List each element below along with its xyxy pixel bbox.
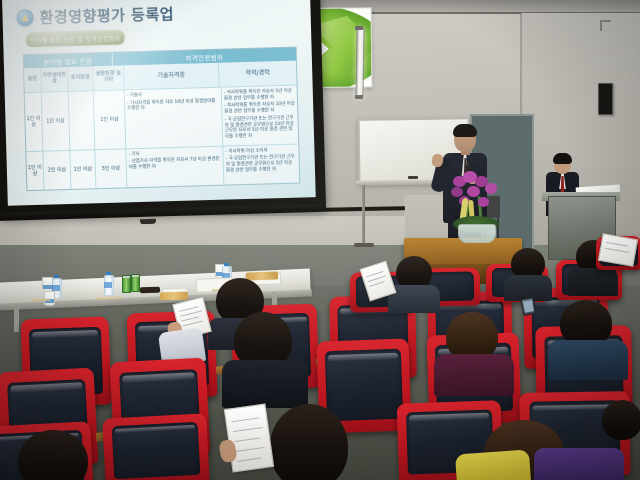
audience-person bbox=[600, 400, 640, 450]
audience-purple-jacket bbox=[534, 448, 624, 480]
cell-total: 1인 이상 bbox=[26, 151, 44, 190]
orchid-bloom bbox=[478, 197, 489, 207]
audience-shoulders bbox=[434, 354, 514, 396]
audience-person bbox=[548, 300, 628, 378]
cell-total: 1인 이상 bbox=[25, 93, 44, 151]
career-line: - 학사학위를 취득한 자로서 10년 이상 환경 관련 업무를 수행한 자 bbox=[224, 102, 295, 115]
audience-shoulders bbox=[222, 360, 308, 408]
whiteboard-foot-left bbox=[354, 243, 374, 247]
cell-living: 1인 이상 bbox=[94, 90, 127, 149]
auditorium-seat[interactable] bbox=[102, 413, 210, 480]
col-header-certificate: 기술자격증 bbox=[124, 63, 220, 90]
col-header-total: 총원 bbox=[24, 68, 42, 92]
presenter-hair bbox=[453, 124, 477, 137]
orchid-bloom bbox=[485, 183, 497, 194]
whiteboard-leg-left bbox=[362, 185, 365, 247]
audience-person-foreground bbox=[256, 404, 360, 480]
handout-document bbox=[224, 403, 274, 472]
water-bottle bbox=[104, 272, 112, 294]
career-line: - 국·공립연구기관 또는 연구기관 근무자 및 환경관련 공무원으로 10년 … bbox=[224, 116, 296, 141]
audience-person-foreground bbox=[12, 430, 108, 480]
qualification-line: - 기술사 bbox=[127, 91, 219, 99]
snack-fried-items bbox=[160, 292, 188, 301]
cell-nature: 2인 이상 bbox=[43, 151, 71, 190]
cell-career: - 석사학위 이상 소지자 - 국·공립연구기관 또는 연구기관 근무자 및 환… bbox=[223, 144, 299, 184]
presentation-slide: 환경영향평가 등록업 분야별 필요 인원 및 자격인정범위 분야별 필요 인원 … bbox=[2, 0, 316, 206]
audience-shoulders bbox=[548, 340, 628, 380]
screen-pull-handle bbox=[140, 219, 156, 224]
career-line: - 석사학위를 취득한 자로서 5년 이상 환경 관련 업무를 수행한 자 bbox=[224, 89, 295, 102]
audience-yellow-jacket bbox=[455, 449, 531, 480]
orchid-arrangement bbox=[447, 170, 507, 242]
slide-subheading-box: 분야별 필요 인원 및 자격인정범위 bbox=[25, 29, 125, 48]
audience-person bbox=[504, 248, 552, 300]
col-header-land: 토지환경 bbox=[68, 66, 94, 91]
snack-dark-item bbox=[140, 287, 160, 294]
table-row: 1인 이상 2인 이상 1인 이상 3인 이상 - 기사 - 산업기사 자격을 … bbox=[26, 143, 299, 190]
career-line: - 국·공립연구기관 또는 연구기관 근무자 및 환경관련 공무원으로 5년 이… bbox=[226, 155, 297, 174]
podium-man-hair bbox=[553, 153, 572, 164]
qualification-line: - 기사자격을 취득한 자로 10년 이상 환경분야를 수행한 자 bbox=[127, 98, 219, 112]
slide-title: 환경영향평가 등록업 bbox=[39, 3, 174, 28]
table-leg-left bbox=[14, 306, 19, 332]
cell-qualification: - 기술사 - 기사자격을 취득한 자로 10년 이상 환경분야를 수행한 자 bbox=[125, 88, 224, 148]
cell-nature: 1인 이상 bbox=[42, 92, 71, 150]
cell-qualification: - 기사 - 산업기사 자격을 취득한 자로서 7년 이상 환경분야를 수행한 … bbox=[126, 146, 224, 187]
wall-speaker-icon bbox=[598, 83, 613, 115]
table-row: 1인 이상 1인 이상 1인 이상 - 기술사 - 기사자격을 취득한 자로 1… bbox=[25, 85, 299, 151]
tube-cap-top bbox=[355, 26, 363, 30]
audience-person bbox=[436, 312, 514, 392]
cell-career: - 석사학위를 취득한 자로서 5년 이상 환경 관련 업무를 수행한 자 - … bbox=[222, 86, 299, 146]
smartphone[interactable] bbox=[521, 297, 537, 316]
audience-person bbox=[222, 312, 308, 406]
green-drink-can bbox=[131, 274, 140, 292]
qualification-line: - 산업기사 자격을 취득한 자로서 7년 이상 환경분야를 수행한 자 bbox=[129, 157, 221, 171]
slide-title-row: 환경영향평가 등록업 bbox=[16, 3, 174, 28]
slide-table: 분야별 필요 인원 자격인정범위 총원 자연생태환경 토지환경 생활환경 및 기… bbox=[23, 47, 301, 192]
tube-cap-bottom bbox=[355, 95, 363, 99]
projection-screen-surface: 환경영향평가 등록업 분야별 필요 인원 및 자격인정범위 분야별 필요 인원 … bbox=[2, 0, 316, 206]
audience-person bbox=[388, 256, 440, 312]
cell-living: 3인 이상 bbox=[95, 149, 127, 188]
green-drink-can bbox=[122, 275, 131, 293]
cell-land bbox=[69, 91, 96, 149]
handout-document bbox=[598, 233, 638, 267]
fluorescent-tube-light bbox=[355, 28, 364, 98]
col-header-living: 생활환경 및 기타 bbox=[93, 65, 125, 90]
orchid-pot bbox=[458, 224, 496, 243]
whiteboard-marker bbox=[408, 176, 418, 179]
cell-land: 1인 이상 bbox=[70, 150, 96, 189]
slide-subheading: 분야별 필요 인원 및 자격인정범위 bbox=[30, 33, 121, 45]
orchid-bloom bbox=[467, 186, 480, 197]
col-header-career: 학력/경력 bbox=[219, 61, 297, 87]
triangle-bullet-icon bbox=[16, 9, 33, 26]
col-header-nature: 자연생태환경 bbox=[41, 67, 69, 92]
projection-screen: 환경영향평가 등록업 분야별 필요 인원 및 자격인정범위 분야별 필요 인원 … bbox=[0, 0, 326, 218]
lecture-hall-photo: 수회 구 전 학 술 대학교 환경공학과 환경영향평가 등록업 분야별 필요 인… bbox=[0, 0, 640, 480]
wall-corner-bracket-icon bbox=[600, 20, 611, 31]
